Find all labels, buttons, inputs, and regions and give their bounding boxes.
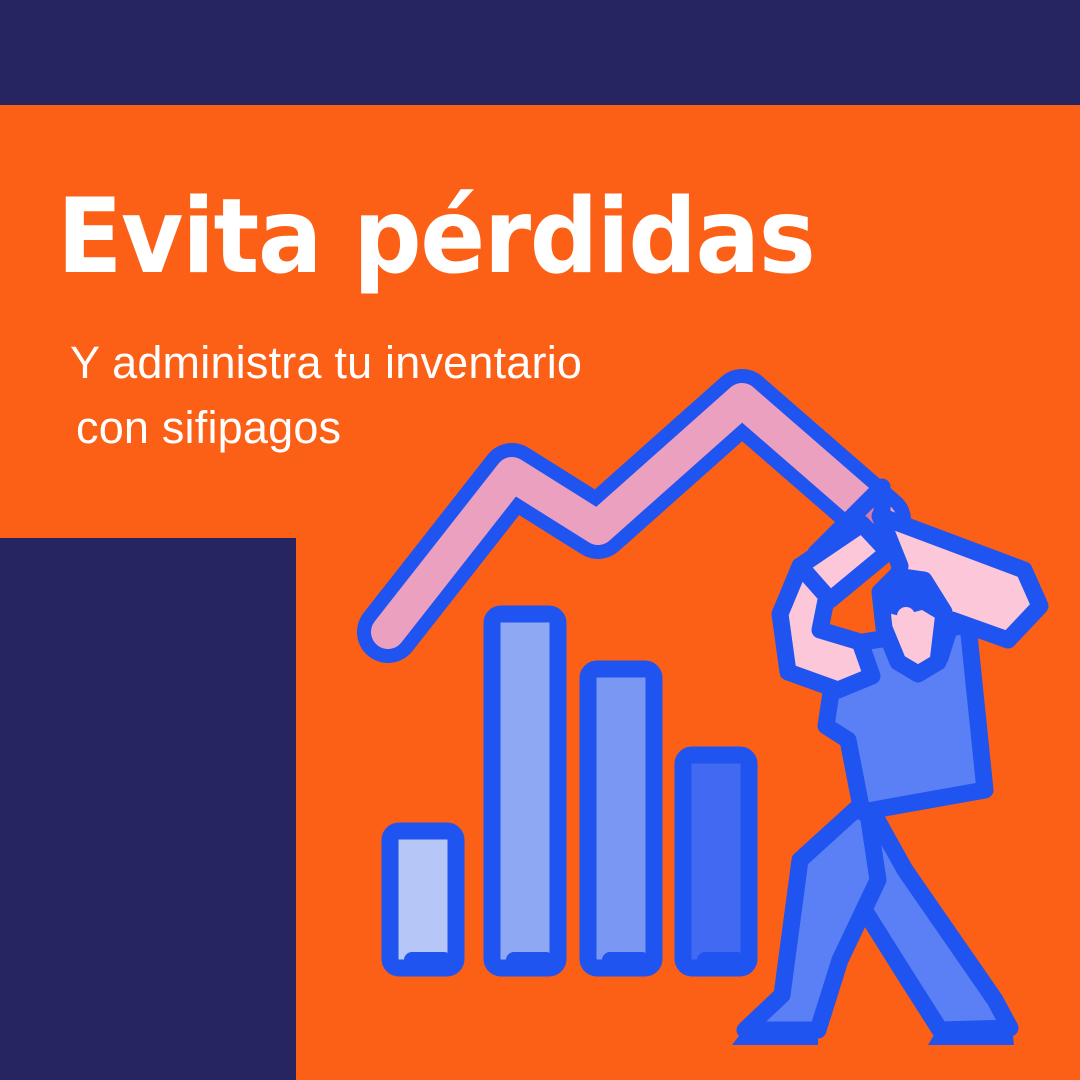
subtitle-line-2: con sifipagos	[70, 395, 582, 460]
trend-arrow-head	[816, 487, 882, 553]
bar-3	[588, 669, 654, 968]
person-head	[880, 576, 944, 674]
bar-chart-icon	[390, 614, 749, 968]
person-left-forearm	[800, 524, 888, 600]
person-front-leg	[745, 800, 878, 1030]
person-back-foot	[928, 1028, 1014, 1045]
bar-base-ticks	[404, 952, 745, 968]
navy-bottom-left-block	[0, 538, 296, 1080]
person-shirt	[826, 625, 985, 812]
bar-1	[390, 831, 456, 968]
person-icon	[732, 516, 1040, 1045]
person-right-arm	[880, 516, 1040, 658]
person-left-arm	[780, 566, 872, 690]
person-hair	[876, 570, 946, 622]
subtitle-line-1: Y administra tu inventario	[70, 337, 582, 388]
page-title: Evita pérdidas	[57, 186, 814, 289]
person-front-foot	[732, 1028, 818, 1045]
subtitle: Y administra tu inventario con sifipagos	[70, 330, 582, 461]
person-ear	[897, 607, 915, 625]
bar-4	[683, 755, 749, 968]
bar-2	[492, 614, 558, 968]
poster-canvas: Evita pérdidas Y administra tu inventari…	[0, 0, 1080, 1080]
person-back-leg	[858, 800, 1010, 1030]
navy-top-band	[0, 0, 1080, 105]
